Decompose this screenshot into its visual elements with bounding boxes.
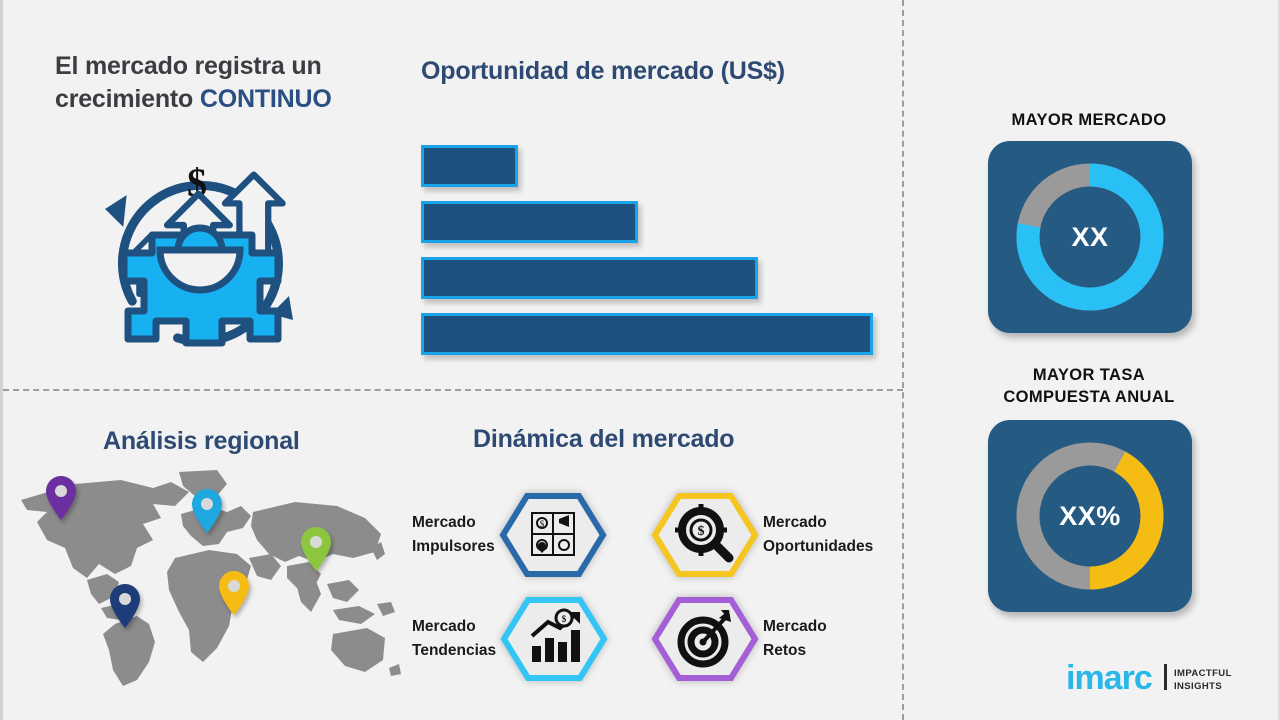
imarc-logo: imarc IMPACTFUL INSIGHTS xyxy=(1066,658,1251,698)
target-arrow-icon xyxy=(651,596,759,682)
dynamics-item-drivers[interactable]: Mercado Impulsores $ xyxy=(412,492,607,578)
regional-analysis-title: Análisis regional xyxy=(103,427,300,456)
svg-text:$: $ xyxy=(539,519,544,529)
chart-title: Oportunidad de mercado (US$) xyxy=(421,57,785,86)
dynamics-label-line2: Retos xyxy=(763,642,806,659)
market-dynamics-title: Dinámica del mercado xyxy=(473,425,734,454)
horizontal-divider xyxy=(3,389,903,391)
dynamics-item-trends-label: Mercado Tendencias xyxy=(412,615,496,663)
highest-cagr-title-line2: COMPUESTA ANUAL xyxy=(1003,388,1174,406)
hexagon-trends: $ xyxy=(500,596,608,682)
vertical-divider xyxy=(902,0,904,720)
largest-market-title: MAYOR MERCADO xyxy=(949,110,1229,132)
dynamics-label-line1: Mercado xyxy=(412,514,476,531)
dynamics-label-line1: Mercado xyxy=(412,618,476,635)
dynamics-item-trends[interactable]: Mercado Tendencias $ xyxy=(412,596,608,682)
bar-1 xyxy=(421,145,518,187)
logo-tagline-line2: INSIGHTS xyxy=(1174,681,1222,692)
dynamics-label-line2: Oportunidades xyxy=(763,538,873,555)
growth-headline-highlight: CONTINUO xyxy=(200,85,332,113)
hexagon-challenges xyxy=(651,596,759,682)
highest-cagr-title: MAYOR TASA COMPUESTA ANUAL xyxy=(949,365,1229,409)
dynamics-item-challenges-label: Mercado Retos xyxy=(763,615,827,663)
dynamics-label-line1: Mercado xyxy=(763,618,827,635)
market-opportunity-bar-chart xyxy=(421,145,881,355)
dynamics-item-challenges[interactable]: Mercado Retos xyxy=(651,596,827,682)
highest-cagr-card: XX% xyxy=(988,420,1192,612)
dynamics-item-drivers-label: Mercado Impulsores xyxy=(412,511,495,559)
largest-market-card: XX xyxy=(988,141,1192,333)
dynamics-label-line2: Impulsores xyxy=(412,538,495,555)
world-map xyxy=(3,462,403,690)
dynamics-label-line1: Mercado xyxy=(763,514,827,531)
growth-headline-line2-prefix: crecimiento xyxy=(55,85,200,113)
svg-text:$: $ xyxy=(698,524,705,539)
gear-growth-arrows-icon: $ xyxy=(81,138,313,364)
hexagon-opportunities: $ xyxy=(651,492,759,578)
largest-market-value: XX xyxy=(1071,222,1108,253)
bar-2 xyxy=(421,201,638,243)
magnifier-dollar-icon: $ xyxy=(651,492,759,578)
logo-wordmark: imarc xyxy=(1066,659,1152,697)
infographic-canvas: El mercado registra un crecimiento CONTI… xyxy=(0,0,1280,720)
dynamics-item-opportunities-label: Mercado Oportunidades xyxy=(763,511,873,559)
dynamics-item-opportunities[interactable]: $ Mercado Oportunidades xyxy=(651,492,873,578)
dynamics-label-line2: Tendencias xyxy=(412,642,496,659)
highest-cagr-title-line1: MAYOR TASA xyxy=(1033,366,1145,384)
bar-4 xyxy=(421,313,873,355)
hexagon-drivers: $ xyxy=(499,492,607,578)
growth-bar-chart-icon: $ xyxy=(500,596,608,682)
logo-tagline-line1: IMPACTFUL xyxy=(1174,668,1232,679)
growth-headline: El mercado registra un crecimiento CONTI… xyxy=(55,50,405,117)
highest-cagr-value: XX% xyxy=(1059,501,1121,532)
svg-text:$: $ xyxy=(562,614,567,624)
puzzle-pieces-icon: $ xyxy=(499,492,607,578)
growth-headline-line1: El mercado registra un xyxy=(55,52,322,80)
bar-3 xyxy=(421,257,758,299)
